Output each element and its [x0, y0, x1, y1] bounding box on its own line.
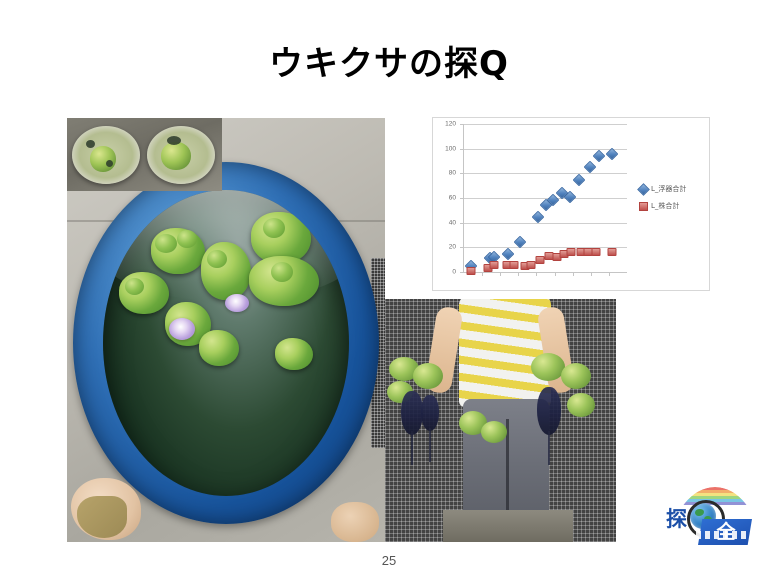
- bucket-plant: [90, 146, 116, 172]
- bucket-left: [72, 126, 140, 184]
- hyacinth-cluster: [199, 330, 239, 366]
- y-tick-mark: [460, 272, 464, 273]
- sandal: [77, 496, 127, 538]
- bucket-debris: [86, 140, 95, 148]
- x-tick-mark: [573, 272, 574, 276]
- chart-plot-wrapper: 020406080100120: [433, 118, 633, 290]
- chart-legend: L_浮器合計L_株合計: [639, 184, 707, 218]
- hyacinth-flower: [169, 318, 195, 340]
- chart-plot-area: [463, 124, 627, 273]
- hyacinth-leaf: [155, 234, 177, 253]
- hyacinth-cluster: [275, 338, 313, 370]
- y-axis-tick-80: 80: [449, 170, 456, 177]
- slide-canvas: ウキクサの探Q: [0, 0, 778, 584]
- held-plant-left: [387, 357, 465, 467]
- plant-roots: [421, 395, 439, 431]
- x-tick-mark: [500, 272, 501, 276]
- data-point-series-2: [467, 267, 476, 275]
- bucket-debris: [167, 136, 181, 145]
- hyacinth-leaf: [263, 218, 285, 238]
- hyacinth-flower: [225, 294, 249, 312]
- tan-q-logo: 探 全: [660, 485, 768, 547]
- gridline: [464, 223, 627, 224]
- legend-square-icon: [639, 202, 648, 211]
- plant-leaf: [567, 393, 595, 417]
- hyacinth-leaf: [271, 262, 293, 282]
- data-point-series-2: [510, 261, 519, 269]
- y-axis-tick-60: 60: [449, 195, 456, 202]
- page-number: 25: [0, 553, 778, 568]
- data-point-series-1: [584, 161, 597, 174]
- growth-scatter-chart: 020406080100120 L_浮器合計L_株合計: [432, 117, 710, 291]
- legend-item-1: L_浮器合計: [639, 184, 707, 194]
- legend-label: L_株合計: [651, 201, 679, 211]
- plant-leaf: [413, 363, 443, 389]
- x-tick-mark: [555, 272, 556, 276]
- y-axis-tick-120: 120: [445, 121, 456, 128]
- data-point-series-1: [532, 210, 545, 223]
- child-holding-plants-photo: [385, 299, 616, 542]
- held-plant-right: [527, 355, 605, 465]
- bucket-debris: [106, 160, 113, 167]
- hyacinth-leaf: [177, 230, 197, 248]
- plant-roots: [537, 387, 561, 435]
- plant-leaf: [481, 421, 507, 443]
- hyacinth-cluster: [201, 242, 251, 300]
- two-buckets-inset-photo: [67, 118, 222, 191]
- data-point-series-2: [526, 261, 535, 269]
- gridline: [464, 124, 627, 125]
- bucket-plant: [161, 142, 191, 170]
- floor-plate: [443, 510, 573, 542]
- held-plant-center: [459, 407, 519, 467]
- data-point-series-1: [572, 173, 585, 186]
- legend-label: L_浮器合計: [651, 184, 686, 194]
- data-point-series-2: [535, 256, 544, 264]
- hyacinth-leaf: [125, 278, 144, 295]
- data-point-series-1: [593, 150, 606, 163]
- y-axis-tick-100: 100: [445, 145, 456, 152]
- y-axis-tick-0: 0: [452, 269, 456, 276]
- legend-item-2: L_株合計: [639, 201, 707, 211]
- logo-wave-lines: [696, 531, 754, 539]
- y-axis-tick-40: 40: [449, 219, 456, 226]
- gridline: [464, 247, 627, 248]
- blue-tub-rim: [73, 162, 379, 524]
- x-tick-mark: [536, 272, 537, 276]
- child-foot-right: [331, 502, 379, 542]
- data-point-series-2: [608, 248, 617, 256]
- hyacinth-leaf: [207, 250, 227, 268]
- data-point-series-1: [502, 247, 515, 260]
- tub-water-surface: [103, 190, 349, 496]
- plant-roots: [401, 391, 423, 435]
- x-tick-mark: [591, 272, 592, 276]
- x-tick-mark: [482, 272, 483, 276]
- hyacinth-cluster: [119, 272, 169, 314]
- plant-leaf: [531, 353, 565, 381]
- y-axis-tick-20: 20: [449, 244, 456, 251]
- page-title: ウキクサの探Q: [0, 36, 778, 85]
- bucket-right: [147, 126, 215, 184]
- data-point-series-2: [591, 248, 600, 256]
- gridline: [464, 149, 627, 150]
- x-tick-mark: [518, 272, 519, 276]
- logo-kanji-tan: 探: [666, 503, 687, 533]
- gridline: [464, 173, 627, 174]
- x-tick-mark: [609, 272, 610, 276]
- legend-diamond-icon: [637, 183, 650, 196]
- data-point-series-2: [567, 248, 576, 256]
- data-point-series-2: [489, 261, 498, 269]
- y-axis-tick-labels: 020406080100120: [433, 124, 459, 272]
- plant-leaf: [561, 363, 591, 389]
